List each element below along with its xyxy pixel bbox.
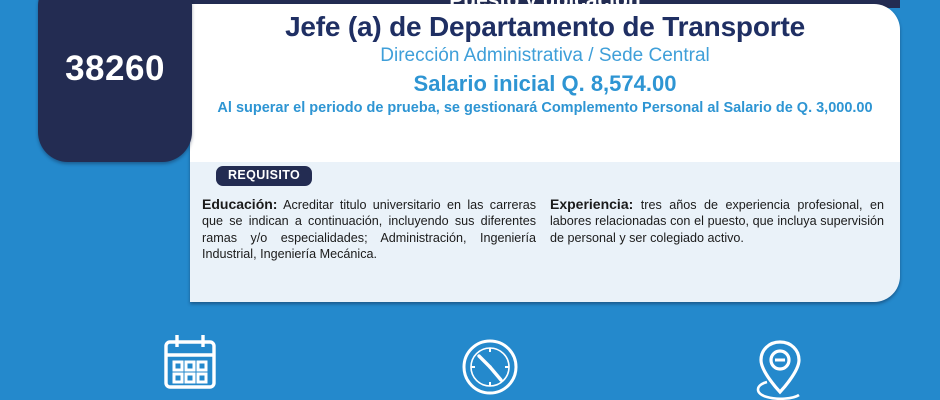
- requirements-panel: REQUISITO Educación: Acreditar titulo un…: [190, 162, 900, 302]
- footer-icon-row: [0, 330, 940, 400]
- job-salary-note: Al superar el periodo de prueba, se gest…: [208, 98, 882, 118]
- id-badge: 38260: [38, 0, 192, 162]
- experience-label: Experiencia:: [550, 196, 633, 212]
- calendar-icon: [155, 330, 225, 400]
- job-card: Jefe (a) de Departamento de Transporte D…: [190, 4, 900, 302]
- education-label: Educación:: [202, 196, 277, 212]
- job-salary: Salario inicial Q. 8,574.00: [208, 69, 882, 98]
- id-number: 38260: [65, 49, 165, 89]
- status-badge: REQUISITO: [216, 166, 312, 186]
- requirement-education: Educación: Acreditar titulo universitari…: [202, 196, 536, 263]
- job-summary-panel: Jefe (a) de Departamento de Transporte D…: [190, 4, 900, 162]
- clock-icon: [455, 330, 525, 400]
- requirement-experience: Experiencia: tres años de experiencia pr…: [550, 196, 884, 263]
- location-pin-icon: [745, 330, 815, 400]
- page-title: Jefe (a) de Departamento de Transporte: [208, 10, 882, 43]
- job-location: Dirección Administrativa / Sede Central: [208, 43, 882, 69]
